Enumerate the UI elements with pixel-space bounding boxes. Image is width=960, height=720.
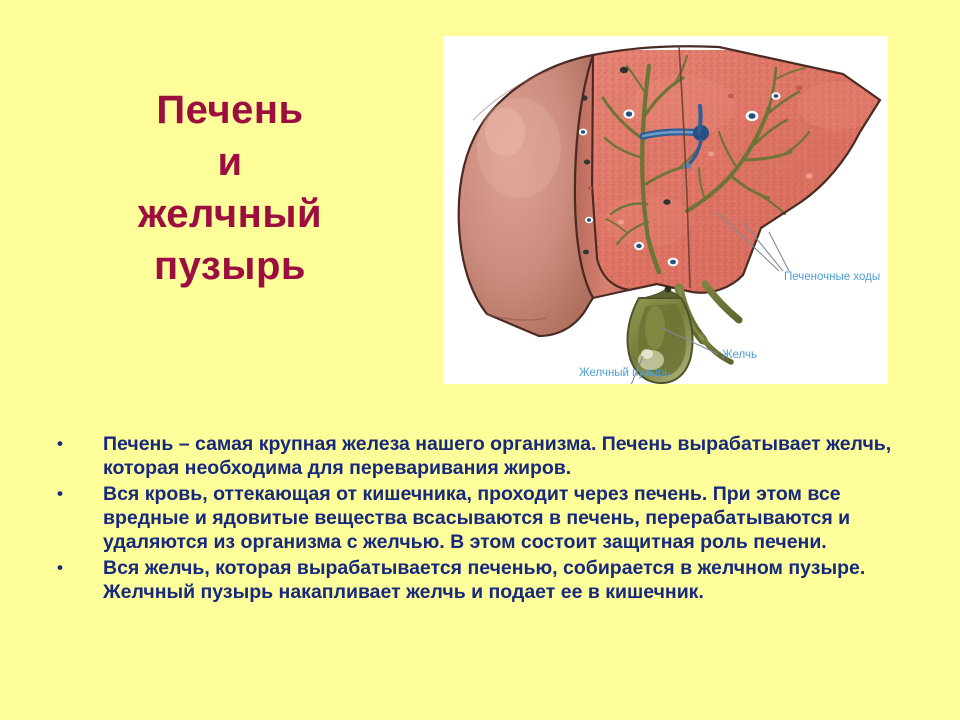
list-item-text: Печень – самая крупная железа нашего орг… xyxy=(103,432,920,480)
page-title-line: и xyxy=(60,136,400,188)
illustration-panel: Печеночные ходы Желчь Желчный пузырь xyxy=(443,36,888,384)
page-title-line: Печень xyxy=(60,84,400,136)
liver-and-gallbladder-diagram: Печеночные ходы Желчь Желчный пузырь xyxy=(443,36,888,384)
page-title-line: пузырь xyxy=(60,240,400,292)
list-item: • Печень – самая крупная железа нашего о… xyxy=(48,432,920,480)
bullet-marker-icon: • xyxy=(48,432,103,456)
page-title-line: желчный xyxy=(60,188,400,240)
label-bile: Желчь xyxy=(722,349,757,361)
label-hepatic-ducts: Печеночные ходы xyxy=(784,271,880,283)
page-title: Печень и желчный пузырь xyxy=(60,84,400,292)
list-item-text: Вся кровь, оттекающая от кишечника, прох… xyxy=(103,482,920,554)
list-item-text: Вся желчь, которая вырабатывается печень… xyxy=(103,556,920,604)
list-item: • Вся кровь, оттекающая от кишечника, пр… xyxy=(48,482,920,554)
bullet-marker-icon: • xyxy=(48,556,103,580)
bullet-list: • Печень – самая крупная железа нашего о… xyxy=(48,432,920,606)
list-item: • Вся желчь, которая вырабатывается пече… xyxy=(48,556,920,604)
label-gallbladder: Желчный пузырь xyxy=(579,367,670,379)
bullet-marker-icon: • xyxy=(48,482,103,506)
